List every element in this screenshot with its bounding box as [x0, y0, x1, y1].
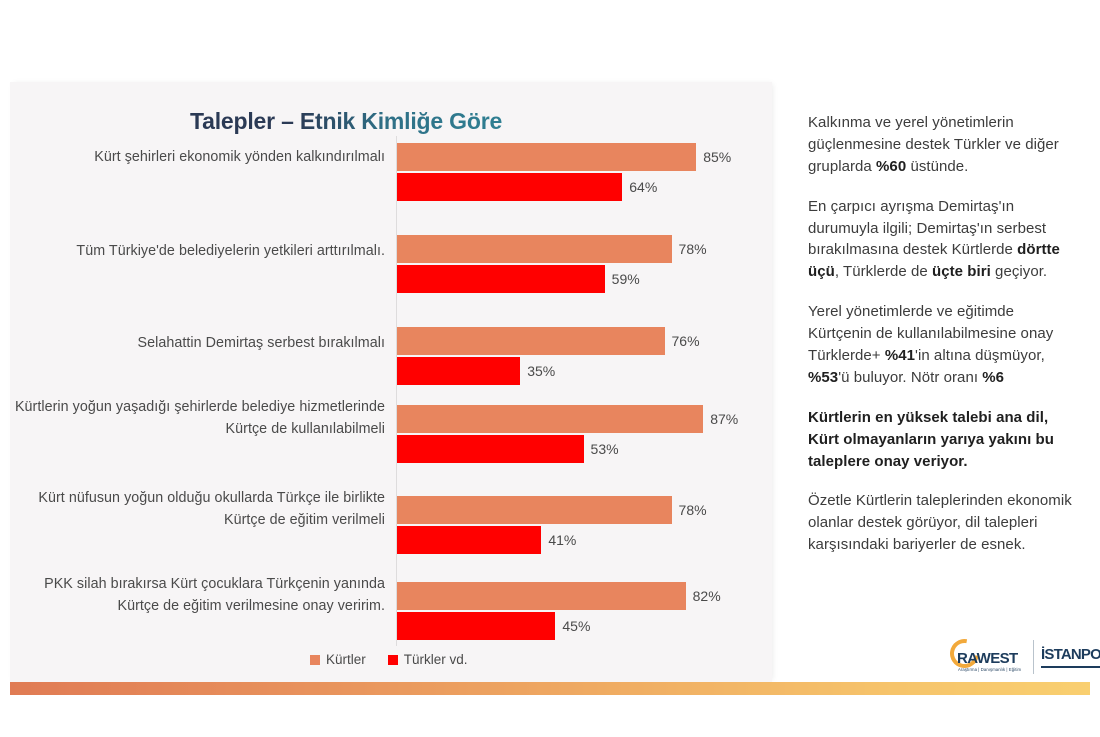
- bar-turkler: [397, 526, 541, 554]
- commentary-text: 'in altına düşmüyor,: [915, 347, 1045, 364]
- commentary-highlight: %53: [808, 369, 838, 386]
- bar-value-kurtler: 78%: [672, 235, 707, 263]
- legend-label: Kürtler: [326, 652, 366, 667]
- chart-row-label: Kürtlerin yoğun yaşadığı şehirlerde bele…: [5, 397, 385, 440]
- chart-row: Kürt şehirleri ekonomik yönden kalkındır…: [0, 139, 762, 217]
- commentary-highlight: %41: [885, 347, 915, 364]
- chart-row: Kürtlerin yoğun yaşadığı şehirlerde bele…: [0, 401, 762, 479]
- bar-kurtler: [397, 405, 703, 433]
- bar-value-turkler: 64%: [622, 173, 657, 201]
- logo-group: RAWEST Araştırma | Danışmanlık | Eğitim …: [948, 636, 1100, 678]
- chart-row-bars: 85%64%: [397, 139, 749, 217]
- commentary-paragraph: Kalkınma ve yerel yönetimlerin güçlenmes…: [808, 112, 1076, 178]
- commentary-text: Özetle Kürtlerin taleplerinden ekonomik …: [808, 492, 1072, 553]
- bar-value-turkler: 45%: [555, 612, 590, 640]
- bar-value-turkler: 35%: [520, 357, 555, 385]
- bar-kurtler: [397, 143, 696, 171]
- chart-row-label: Tüm Türkiye'de belediyelerin yetkileri a…: [5, 241, 385, 263]
- chart-row: Tüm Türkiye'de belediyelerin yetkileri a…: [0, 231, 762, 309]
- bar-value-kurtler: 85%: [696, 143, 731, 171]
- legend-swatch-icon: [388, 655, 398, 665]
- logo-divider: [1033, 640, 1034, 674]
- bar-value-kurtler: 82%: [686, 582, 721, 610]
- chart-row-bars: 78%59%: [397, 231, 749, 309]
- bar-turkler: [397, 435, 584, 463]
- bar-kurtler: [397, 235, 672, 263]
- bar-turkler: [397, 265, 605, 293]
- commentary-text: 'ü buluyor. Nötr oranı: [838, 369, 982, 386]
- slide-canvas: Talepler – Etnik Kimliğe Göre Kürt şehir…: [0, 0, 1100, 737]
- bottom-gradient-bar: [10, 682, 1090, 695]
- bar-value-kurtler: 76%: [665, 327, 700, 355]
- chart-row-bars: 78%41%: [397, 492, 749, 570]
- bar-value-turkler: 53%: [584, 435, 619, 463]
- chart-legend: KürtlerTürkler vd.: [310, 652, 468, 667]
- chart-row: PKK silah bırakırsa Kürt çocuklara Türkç…: [0, 578, 762, 656]
- commentary-highlight: üçte biri: [932, 263, 991, 280]
- legend-item[interactable]: Kürtler: [310, 652, 366, 667]
- bar-value-turkler: 59%: [605, 265, 640, 293]
- bar-kurtler: [397, 582, 686, 610]
- chart-row-bars: 76%35%: [397, 323, 749, 401]
- chart-row: Selahattin Demirtaş serbest bırakılmalı7…: [0, 323, 762, 401]
- rawest-logo: RAWEST Araştırma | Danışmanlık | Eğitim: [948, 637, 1026, 677]
- bar-turkler: [397, 173, 622, 201]
- bar-value-kurtler: 78%: [672, 496, 707, 524]
- bar-turkler: [397, 612, 555, 640]
- chart-row-label: PKK silah bırakırsa Kürt çocuklara Türkç…: [5, 574, 385, 617]
- commentary-paragraph: Kürtlerin en yüksek talebi ana dil, Kürt…: [808, 407, 1076, 473]
- commentary-text: , Türklerde de: [835, 263, 932, 280]
- legend-label: Türkler vd.: [404, 652, 468, 667]
- commentary-paragraph: Özetle Kürtlerin taleplerinden ekonomik …: [808, 490, 1076, 556]
- rawest-tagline: Araştırma | Danışmanlık | Eğitim: [958, 667, 1021, 672]
- commentary-text: Kürtlerin en yüksek talebi ana dil, Kürt…: [808, 409, 1054, 470]
- legend-item[interactable]: Türkler vd.: [388, 652, 468, 667]
- commentary-text: geçiyor.: [991, 263, 1047, 280]
- chart-row-label: Kürt şehirleri ekonomik yönden kalkındır…: [5, 147, 385, 169]
- chart-title: Talepler – Etnik Kimliğe Göre: [190, 108, 502, 135]
- bar-value-turkler: 41%: [541, 526, 576, 554]
- legend-swatch-icon: [310, 655, 320, 665]
- chart-row-bars: 82%45%: [397, 578, 749, 656]
- bar-kurtler: [397, 327, 665, 355]
- commentary-paragraph: En çarpıcı ayrışma Demirtaş'ın durumuyla…: [808, 196, 1076, 284]
- istanpol-logo: İSTANPOL: [1041, 646, 1100, 668]
- chart-row-bars: 87%53%: [397, 401, 749, 479]
- commentary-column: Kalkınma ve yerel yönetimlerin güçlenmes…: [808, 112, 1076, 574]
- bar-turkler: [397, 357, 520, 385]
- chart-row-label: Kürt nüfusun yoğun olduğu okullarda Türk…: [5, 488, 385, 531]
- chart-row: Kürt nüfusun yoğun olduğu okullarda Türk…: [0, 492, 762, 570]
- commentary-text: üstünde.: [906, 158, 968, 175]
- commentary-text: En çarpıcı ayrışma Demirtaş'ın durumuyla…: [808, 198, 1046, 259]
- bar-kurtler: [397, 496, 672, 524]
- bar-value-kurtler: 87%: [703, 405, 738, 433]
- chart-row-label: Selahattin Demirtaş serbest bırakılmalı: [5, 333, 385, 355]
- commentary-paragraph: Yerel yönetimlerde ve eğitimde Kürtçenin…: [808, 301, 1076, 389]
- commentary-highlight: %60: [876, 158, 906, 175]
- commentary-highlight: %6: [982, 369, 1004, 386]
- rawest-wordmark: RAWEST: [957, 650, 1018, 667]
